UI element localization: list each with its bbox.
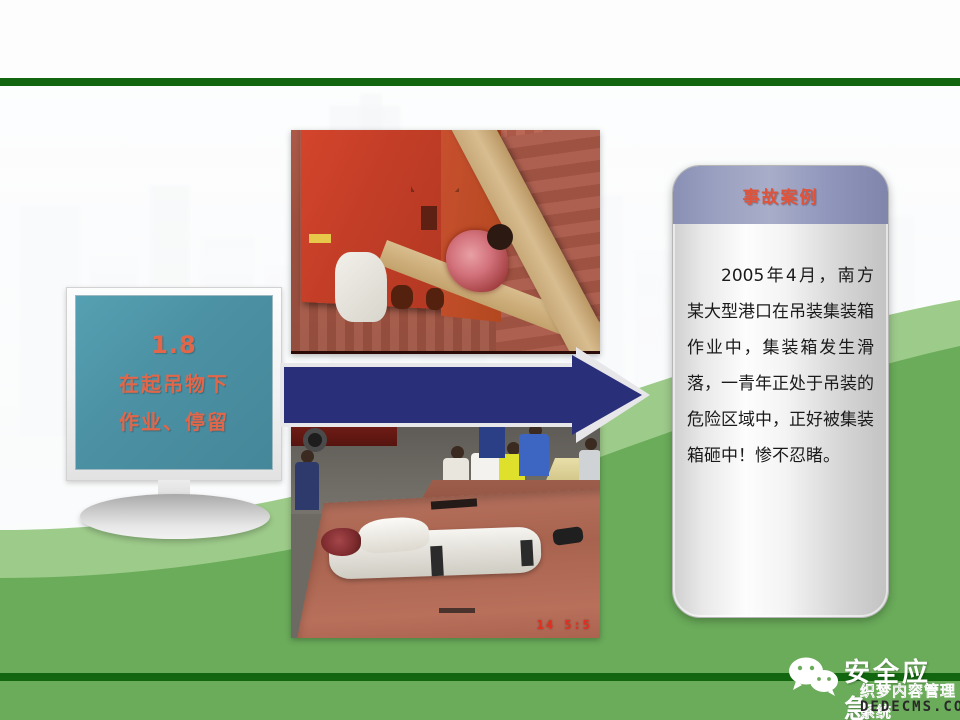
dock-scene-illustration: 14 5:5: [291, 422, 600, 638]
bystander-body-1: [295, 462, 319, 510]
photo-timestamp: 14 5:5: [537, 618, 592, 632]
transition-arrow: [276, 345, 654, 445]
brand-logo-group: 安全应急 织梦内容管理系统 DEDECMS.COM: [786, 652, 958, 714]
container-crush-illustration: [291, 130, 600, 351]
container-slot-2: [391, 285, 413, 309]
arrow-fill: [284, 355, 642, 435]
watermark-domain: DEDECMS.COM: [860, 699, 960, 715]
case-study-title: 事故案例: [743, 183, 819, 208]
monitor-bezel: 1.8 在起吊物下 作业、停留: [66, 287, 282, 481]
slide-canvas: 1.8 在起吊物下 作业、停留: [0, 0, 960, 720]
accident-photo-dock: 14 5:5: [291, 422, 600, 638]
top-white-band: [0, 0, 960, 78]
section-title-line-2: 作业、停留: [119, 406, 229, 435]
case-study-panel: 事故案例 2005年4月，南方某大型港口在吊装集装箱作业中，集装箱发生滑落，一青…: [672, 165, 889, 618]
container-scratches: [411, 136, 459, 192]
victim-head: [487, 224, 513, 250]
white-cloth: [335, 252, 387, 322]
accident-photo-container: [291, 130, 600, 354]
container-slot-3: [426, 288, 444, 310]
case-study-header: 事故案例: [673, 166, 888, 224]
body-strap-2: [520, 540, 533, 567]
container-slot-1: [421, 206, 437, 230]
monitor-graphic: 1.8 在起吊物下 作业、停留: [66, 287, 282, 522]
section-number: 1.8: [151, 331, 197, 359]
body-strap-1: [430, 546, 444, 577]
monitor-screen: 1.8 在起吊物下 作业、停留: [75, 295, 273, 470]
case-study-body: 2005年4月，南方某大型港口在吊装集装箱作业中，集装箱发生滑落，一青年正处于吊…: [673, 224, 888, 474]
wechat-icon: [786, 656, 842, 696]
monitor-stand-base: [80, 494, 270, 539]
victim-head-dock: [321, 528, 361, 556]
section-title-line-1: 在起吊物下: [119, 368, 229, 397]
yellow-marking: [309, 234, 331, 243]
hatch-gap-lower: [439, 608, 475, 613]
case-study-paragraph: 2005年4月，南方某大型港口在吊装集装箱作业中，集装箱发生滑落，一青年正处于吊…: [687, 258, 874, 474]
top-green-rule: [0, 78, 960, 86]
